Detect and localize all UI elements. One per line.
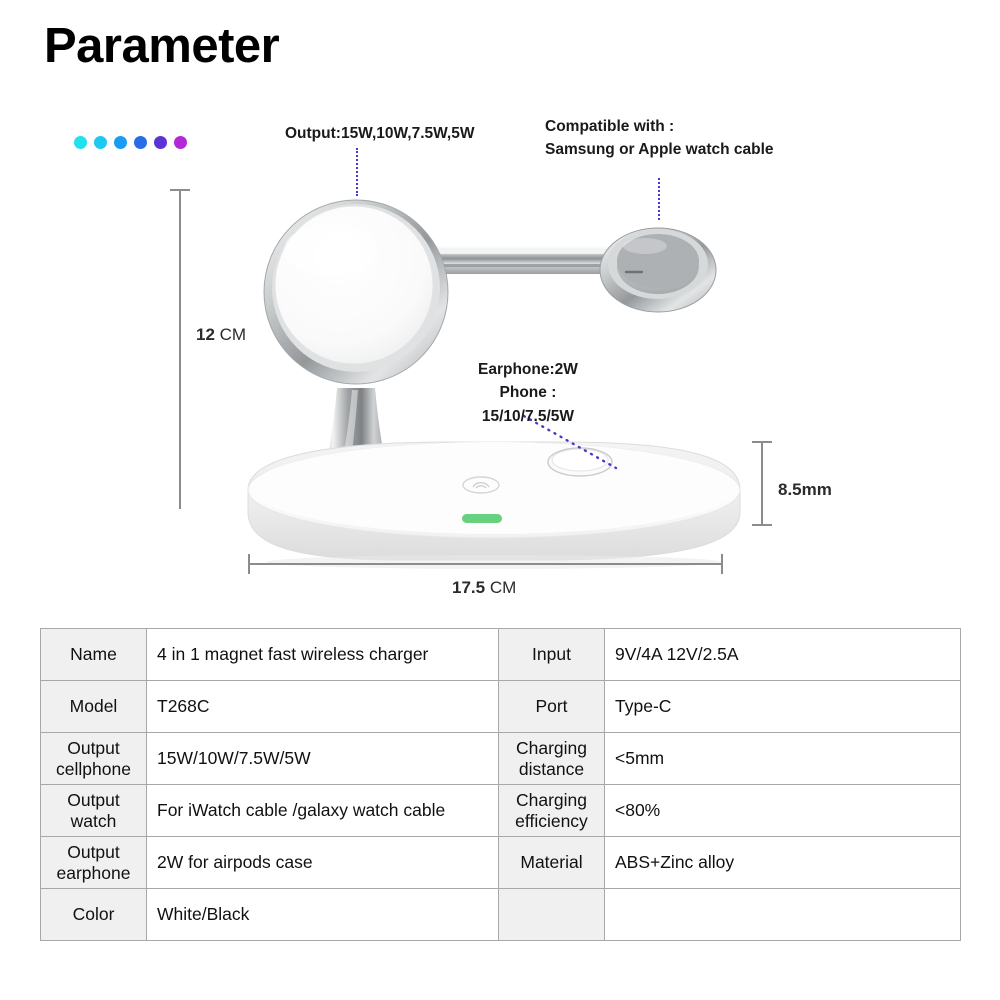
spec-label-empty: [499, 889, 605, 941]
spec-label: Name: [41, 629, 147, 681]
spec-label: Color: [41, 889, 147, 941]
table-row: Output watch For iWatch cable /galaxy wa…: [41, 785, 961, 837]
spec-label: Input: [499, 629, 605, 681]
table-row: Output cellphone 15W/10W/7.5W/5W Chargin…: [41, 733, 961, 785]
table-row: Output earphone 2W for airpods case Mate…: [41, 837, 961, 889]
spec-label: Output cellphone: [41, 733, 147, 785]
annotation-phone-label: Phone :: [478, 381, 578, 404]
spec-value: <5mm: [605, 733, 961, 785]
spec-value: 9V/4A 12V/2.5A: [605, 629, 961, 681]
table-row: Name 4 in 1 magnet fast wireless charger…: [41, 629, 961, 681]
product-figure: Output:15W,10W,7.5W,5W Compatible with :…: [0, 100, 1000, 620]
watch-charger-head: [600, 228, 716, 312]
leader-line-output: [356, 148, 358, 196]
annotation-compatible-line2: Samsung or Apple watch cable: [545, 138, 774, 161]
annotation-output-text: Output:15W,10W,7.5W,5W: [285, 125, 474, 142]
table-row: Color White/Black: [41, 889, 961, 941]
spec-label: Charging efficiency: [499, 785, 605, 837]
spec-label: Port: [499, 681, 605, 733]
table-row: Model T268C Port Type-C: [41, 681, 961, 733]
spec-label: Charging distance: [499, 733, 605, 785]
spec-value: For iWatch cable /galaxy watch cable: [147, 785, 499, 837]
annotation-compatible-line1: Compatible with :: [545, 118, 674, 135]
spec-value: 2W for airpods case: [147, 837, 499, 889]
spec-value: ABS+Zinc alloy: [605, 837, 961, 889]
spec-value: White/Black: [147, 889, 499, 941]
spec-value: <80%: [605, 785, 961, 837]
annotation-compatible: Compatible with : Samsung or Apple watch…: [545, 115, 774, 162]
spec-value: 15W/10W/7.5W/5W: [147, 733, 499, 785]
dimension-width-label: 17.5 CM: [452, 578, 516, 598]
spec-value: Type-C: [605, 681, 961, 733]
annotation-output: Output:15W,10W,7.5W,5W: [285, 122, 474, 145]
page-title: Parameter: [44, 22, 279, 71]
spec-value-empty: [605, 889, 961, 941]
annotation-power: Earphone:2W Phone : 15/10/7.5/5W: [478, 358, 578, 428]
charger-base: [248, 442, 740, 569]
spec-value: 4 in 1 magnet fast wireless charger: [147, 629, 499, 681]
dimension-height-label: 12 CM: [196, 325, 246, 345]
spec-label: Output earphone: [41, 837, 147, 889]
leader-line-compatible: [658, 178, 660, 220]
dimension-thickness-label: 8.5mm: [778, 480, 832, 500]
spec-label: Model: [41, 681, 147, 733]
phone-charging-disc: [264, 200, 448, 384]
led-indicator: [462, 514, 502, 523]
annotation-earphone: Earphone:2W: [478, 361, 578, 378]
annotation-phone-value: 15/10/7.5/5W: [478, 405, 578, 428]
spec-label: Output watch: [41, 785, 147, 837]
spec-value: T268C: [147, 681, 499, 733]
specification-table: Name 4 in 1 magnet fast wireless charger…: [40, 628, 961, 941]
spec-label: Material: [499, 837, 605, 889]
